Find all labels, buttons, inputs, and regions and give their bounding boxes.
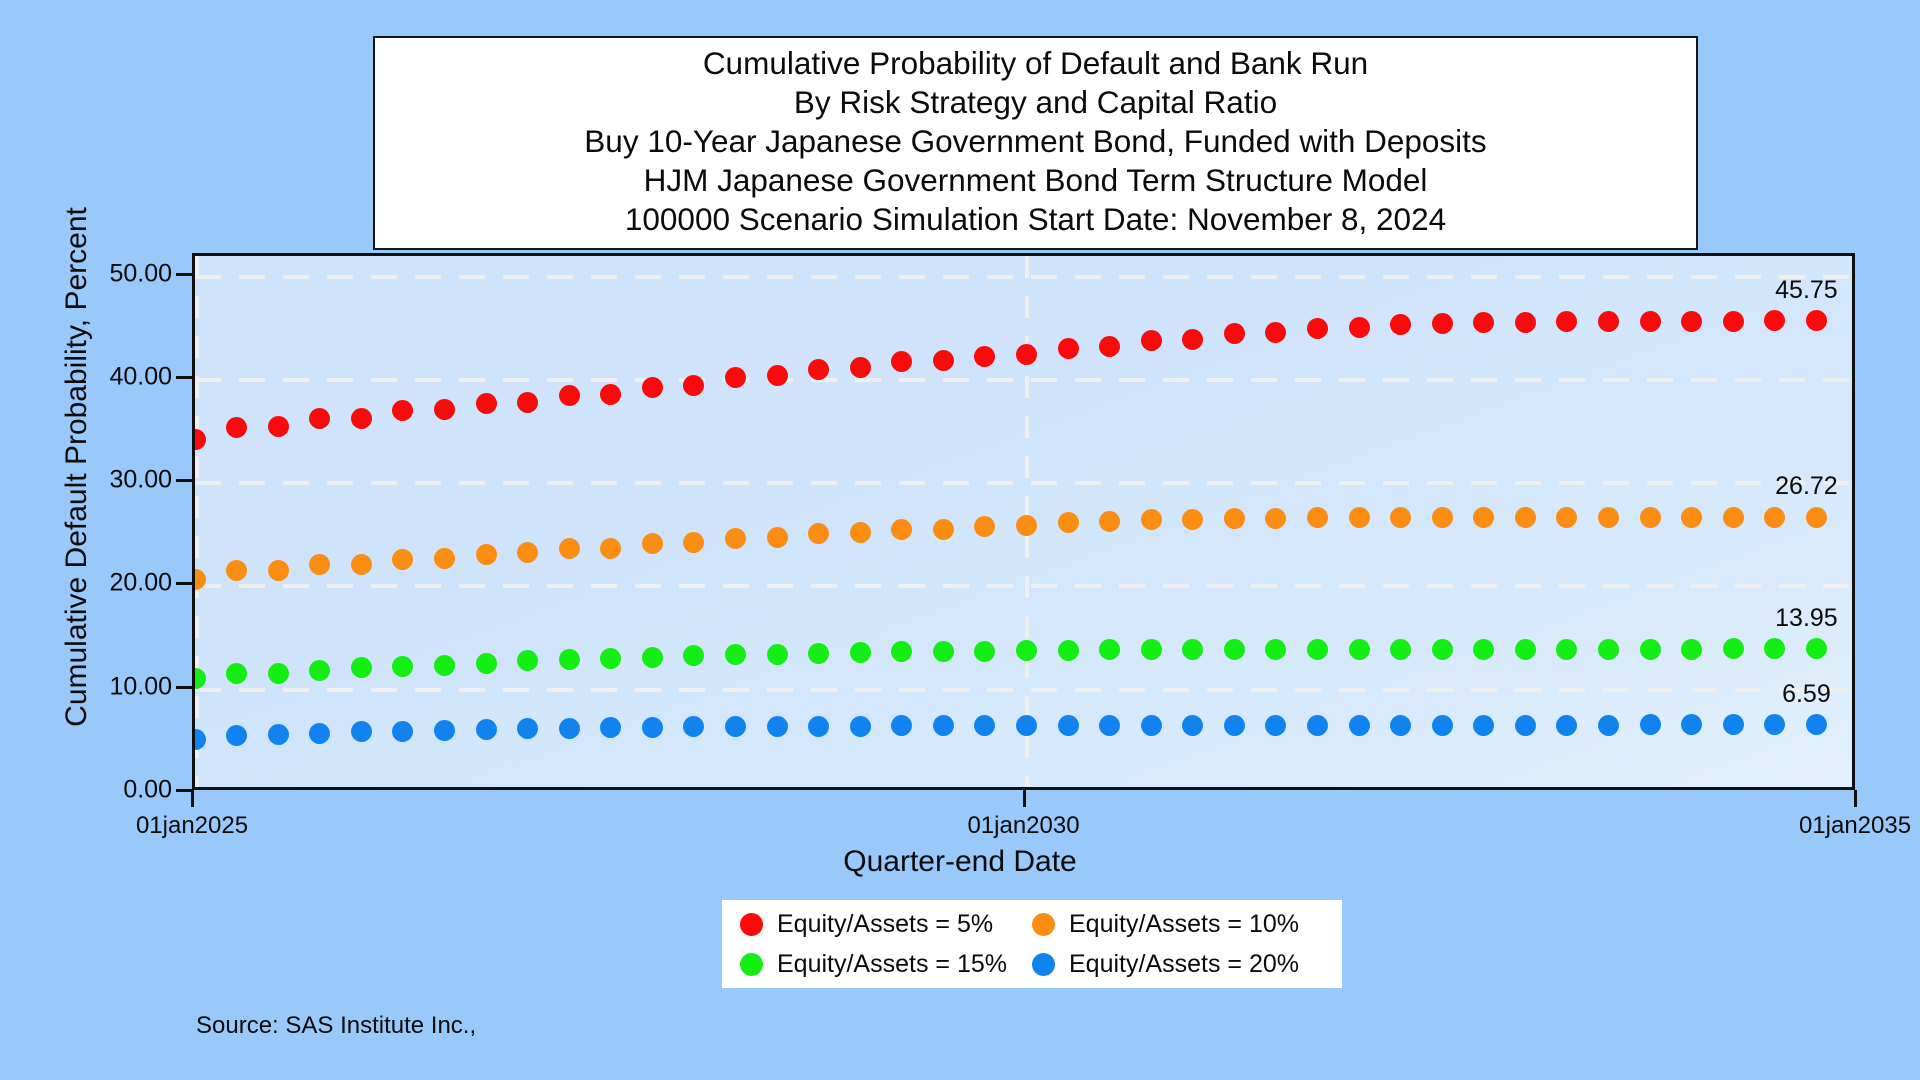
data-point-s0-23 — [1141, 330, 1162, 351]
data-point-s1-19 — [974, 516, 995, 537]
data-point-s0-34 — [1598, 311, 1619, 332]
data-point-s3-35 — [1640, 714, 1661, 735]
chart-legend: Equity/Assets = 5% Equity/Assets = 10% E… — [722, 900, 1342, 988]
data-point-s2-20 — [1016, 640, 1037, 661]
title-line-3: Buy 10-Year Japanese Government Bond, Fu… — [584, 122, 1486, 161]
data-point-s1-36 — [1681, 507, 1702, 528]
gridline-horizontal-1 — [195, 688, 1852, 692]
data-point-s1-10 — [600, 538, 621, 559]
data-point-s3-1 — [226, 725, 247, 746]
legend-marker-icon-0 — [740, 913, 763, 936]
data-point-s1-27 — [1307, 507, 1328, 528]
data-point-s3-3 — [309, 723, 330, 744]
data-point-s1-5 — [392, 549, 413, 570]
data-point-s2-8 — [517, 650, 538, 671]
data-point-s0-24 — [1182, 329, 1203, 350]
gridline-horizontal-3 — [195, 481, 1852, 485]
data-point-s0-25 — [1224, 323, 1245, 344]
y-tick-1 — [176, 686, 192, 689]
data-point-s2-34 — [1598, 639, 1619, 660]
data-point-s1-23 — [1141, 509, 1162, 530]
data-point-s1-15 — [808, 523, 829, 544]
x-axis-title: Quarter-end Date — [0, 845, 1920, 879]
data-point-s1-28 — [1349, 507, 1370, 528]
data-point-s3-21 — [1058, 715, 1079, 736]
data-point-s1-26 — [1265, 508, 1286, 529]
data-point-s3-23 — [1141, 715, 1162, 736]
data-point-s0-3 — [309, 408, 330, 429]
data-point-s2-21 — [1058, 640, 1079, 661]
data-point-s1-21 — [1058, 512, 1079, 533]
data-point-s0-29 — [1390, 314, 1411, 335]
data-point-s3-32 — [1515, 715, 1536, 736]
data-point-s2-28 — [1349, 639, 1370, 660]
data-point-s1-8 — [517, 542, 538, 563]
data-point-s0-9 — [559, 385, 580, 406]
gridline-horizontal-4 — [195, 378, 1852, 382]
data-point-s3-33 — [1556, 715, 1577, 736]
data-point-s3-18 — [933, 715, 954, 736]
data-point-s2-24 — [1182, 639, 1203, 660]
data-point-s1-4 — [351, 554, 372, 575]
data-point-s1-11 — [642, 533, 663, 554]
x-tick-label-1: 01jan2030 — [967, 812, 1079, 840]
data-point-s2-39 — [1806, 638, 1827, 659]
data-point-s0-28 — [1349, 317, 1370, 338]
data-point-s0-10 — [600, 384, 621, 405]
data-point-s1-7 — [476, 544, 497, 565]
data-point-s1-30 — [1432, 507, 1453, 528]
title-line-4: HJM Japanese Government Bond Term Struct… — [644, 161, 1428, 200]
data-point-s2-10 — [600, 648, 621, 669]
data-point-s0-11 — [642, 377, 663, 398]
data-point-s1-16 — [850, 522, 871, 543]
x-tick-0 — [191, 790, 194, 807]
legend-marker-icon-3 — [1032, 953, 1055, 976]
data-point-s1-6 — [434, 548, 455, 569]
gridline-vertical-0 — [195, 256, 199, 787]
data-point-s1-25 — [1224, 508, 1245, 529]
legend-item-2[interactable]: Equity/Assets = 15% — [740, 950, 1032, 979]
legend-marker-icon-2 — [740, 953, 763, 976]
data-point-s3-13 — [725, 716, 746, 737]
data-point-s3-29 — [1390, 715, 1411, 736]
data-point-s3-34 — [1598, 715, 1619, 736]
legend-item-3[interactable]: Equity/Assets = 20% — [1032, 950, 1324, 979]
data-point-s0-32 — [1515, 312, 1536, 333]
data-point-s0-20 — [1016, 344, 1037, 365]
chart-canvas: Cumulative Probability of Default and Ba… — [0, 0, 1920, 1080]
data-point-s2-29 — [1390, 639, 1411, 660]
y-tick-2 — [176, 582, 192, 585]
data-point-s2-17 — [891, 641, 912, 662]
data-point-s1-24 — [1182, 509, 1203, 530]
data-point-s3-4 — [351, 721, 372, 742]
data-point-s1-17 — [891, 519, 912, 540]
gridline-horizontal-5 — [195, 275, 1852, 279]
legend-label-0: Equity/Assets = 5% — [777, 910, 993, 939]
title-line-2: By Risk Strategy and Capital Ratio — [794, 83, 1277, 122]
data-point-s3-8 — [517, 718, 538, 739]
data-point-s3-38 — [1764, 714, 1785, 735]
data-point-s2-0 — [195, 668, 206, 689]
data-point-s0-6 — [434, 399, 455, 420]
data-point-s0-2 — [268, 416, 289, 437]
data-point-s3-20 — [1016, 715, 1037, 736]
data-point-s2-15 — [808, 643, 829, 664]
data-point-s0-38 — [1764, 310, 1785, 331]
data-point-s1-39 — [1806, 507, 1827, 528]
series-end-label-2: 13.95 — [1775, 604, 1838, 633]
data-point-s2-14 — [767, 644, 788, 665]
data-point-s2-11 — [642, 647, 663, 668]
data-point-s3-6 — [434, 720, 455, 741]
data-point-s2-30 — [1432, 639, 1453, 660]
data-point-s2-1 — [226, 663, 247, 684]
series-end-label-3: 6.59 — [1782, 680, 1831, 709]
data-point-s2-19 — [974, 641, 995, 662]
data-point-s0-0 — [195, 429, 206, 450]
data-point-s0-7 — [476, 393, 497, 414]
y-tick-label-4: 40.00 — [109, 362, 172, 391]
data-point-s0-35 — [1640, 311, 1661, 332]
title-line-1: Cumulative Probability of Default and Ba… — [703, 44, 1368, 83]
data-point-s0-33 — [1556, 311, 1577, 332]
data-point-s0-19 — [974, 346, 995, 367]
legend-label-2: Equity/Assets = 15% — [777, 950, 1007, 979]
plot-area: 45.7526.7213.956.59 — [192, 253, 1855, 790]
data-point-s0-4 — [351, 408, 372, 429]
data-point-s2-32 — [1515, 639, 1536, 660]
data-point-s2-25 — [1224, 639, 1245, 660]
data-point-s0-8 — [517, 392, 538, 413]
data-point-s2-18 — [933, 641, 954, 662]
data-point-s3-5 — [392, 721, 413, 742]
data-point-s3-2 — [268, 724, 289, 745]
y-tick-label-5: 50.00 — [109, 259, 172, 288]
data-point-s1-34 — [1598, 507, 1619, 528]
y-tick-label-2: 20.00 — [109, 569, 172, 598]
legend-item-1[interactable]: Equity/Assets = 10% — [1032, 910, 1324, 939]
data-point-s2-12 — [683, 645, 704, 666]
data-point-s0-39 — [1806, 310, 1827, 331]
chart-title-box: Cumulative Probability of Default and Ba… — [373, 36, 1698, 250]
data-point-s3-19 — [974, 715, 995, 736]
data-point-s2-13 — [725, 644, 746, 665]
data-point-s0-27 — [1307, 318, 1328, 339]
data-point-s3-31 — [1473, 715, 1494, 736]
data-point-s0-21 — [1058, 338, 1079, 359]
data-point-s2-31 — [1473, 639, 1494, 660]
data-point-s0-22 — [1099, 336, 1120, 357]
y-tick-0 — [176, 789, 192, 792]
x-tick-1 — [1023, 790, 1026, 807]
data-point-s3-36 — [1681, 714, 1702, 735]
data-point-s1-20 — [1016, 515, 1037, 536]
data-point-s2-16 — [850, 642, 871, 663]
data-point-s2-37 — [1723, 638, 1744, 659]
data-point-s1-38 — [1764, 507, 1785, 528]
data-point-s1-1 — [226, 560, 247, 581]
data-point-s1-18 — [933, 519, 954, 540]
x-tick-label-2: 01jan2035 — [1799, 812, 1911, 840]
data-point-s3-37 — [1723, 714, 1744, 735]
data-point-s1-33 — [1556, 507, 1577, 528]
data-point-s1-14 — [767, 527, 788, 548]
data-point-s2-6 — [434, 655, 455, 676]
data-point-s2-27 — [1307, 639, 1328, 660]
y-tick-label-1: 10.00 — [109, 672, 172, 701]
data-point-s1-9 — [559, 538, 580, 559]
data-point-s2-7 — [476, 653, 497, 674]
data-point-s2-35 — [1640, 639, 1661, 660]
data-point-s0-16 — [850, 357, 871, 378]
y-tick-label-3: 30.00 — [109, 466, 172, 495]
data-point-s1-37 — [1723, 507, 1744, 528]
plot-inner — [195, 256, 1852, 787]
data-point-s1-12 — [683, 532, 704, 553]
data-point-s2-26 — [1265, 639, 1286, 660]
data-point-s2-2 — [268, 663, 289, 684]
data-point-s3-14 — [767, 716, 788, 737]
y-tick-label-0: 0.00 — [123, 776, 172, 805]
data-point-s2-22 — [1099, 639, 1120, 660]
data-point-s1-2 — [268, 560, 289, 581]
data-point-s0-17 — [891, 351, 912, 372]
data-point-s3-17 — [891, 715, 912, 736]
data-point-s1-32 — [1515, 507, 1536, 528]
data-point-s0-18 — [933, 350, 954, 371]
data-point-s3-9 — [559, 718, 580, 739]
data-point-s3-24 — [1182, 715, 1203, 736]
data-point-s2-38 — [1764, 638, 1785, 659]
data-point-s2-5 — [392, 656, 413, 677]
data-point-s0-5 — [392, 400, 413, 421]
data-point-s3-39 — [1806, 714, 1827, 735]
data-point-s0-30 — [1432, 313, 1453, 334]
data-point-s1-35 — [1640, 507, 1661, 528]
data-point-s0-13 — [725, 367, 746, 388]
data-point-s2-33 — [1556, 639, 1577, 660]
legend-item-0[interactable]: Equity/Assets = 5% — [740, 910, 1032, 939]
data-point-s0-12 — [683, 375, 704, 396]
data-point-s0-31 — [1473, 312, 1494, 333]
data-point-s2-36 — [1681, 639, 1702, 660]
series-end-label-1: 26.72 — [1775, 472, 1838, 501]
data-point-s3-16 — [850, 716, 871, 737]
data-point-s1-29 — [1390, 507, 1411, 528]
data-point-s0-37 — [1723, 311, 1744, 332]
data-point-s2-9 — [559, 649, 580, 670]
series-end-label-0: 45.75 — [1775, 276, 1838, 305]
data-point-s0-1 — [226, 417, 247, 438]
data-point-s1-13 — [725, 528, 746, 549]
legend-label-3: Equity/Assets = 20% — [1069, 950, 1299, 979]
data-point-s3-28 — [1349, 715, 1370, 736]
data-point-s3-10 — [600, 717, 621, 738]
data-point-s1-3 — [309, 554, 330, 575]
y-tick-4 — [176, 376, 192, 379]
data-point-s1-22 — [1099, 511, 1120, 532]
data-point-s3-26 — [1265, 715, 1286, 736]
data-point-s3-30 — [1432, 715, 1453, 736]
data-point-s0-26 — [1265, 322, 1286, 343]
gridline-horizontal-2 — [195, 584, 1852, 588]
data-point-s3-22 — [1099, 715, 1120, 736]
x-tick-label-0: 01jan2025 — [136, 812, 248, 840]
data-point-s2-4 — [351, 657, 372, 678]
data-point-s3-0 — [195, 729, 206, 750]
data-point-s1-31 — [1473, 507, 1494, 528]
data-point-s0-36 — [1681, 311, 1702, 332]
data-point-s3-11 — [642, 717, 663, 738]
data-point-s3-12 — [683, 716, 704, 737]
data-point-s2-23 — [1141, 639, 1162, 660]
y-axis-title: Cumulative Default Probability, Percent — [60, 187, 94, 747]
data-point-s3-15 — [808, 716, 829, 737]
y-tick-3 — [176, 479, 192, 482]
title-line-5: 100000 Scenario Simulation Start Date: N… — [625, 200, 1446, 239]
data-point-s3-7 — [476, 719, 497, 740]
data-point-s3-25 — [1224, 715, 1245, 736]
y-tick-5 — [176, 273, 192, 276]
data-point-s0-14 — [767, 365, 788, 386]
source-note: Source: SAS Institute Inc., — [196, 1012, 476, 1040]
legend-label-1: Equity/Assets = 10% — [1069, 910, 1299, 939]
x-tick-2 — [1854, 790, 1857, 807]
data-point-s3-27 — [1307, 715, 1328, 736]
legend-marker-icon-1 — [1032, 913, 1055, 936]
data-point-s2-3 — [309, 660, 330, 681]
